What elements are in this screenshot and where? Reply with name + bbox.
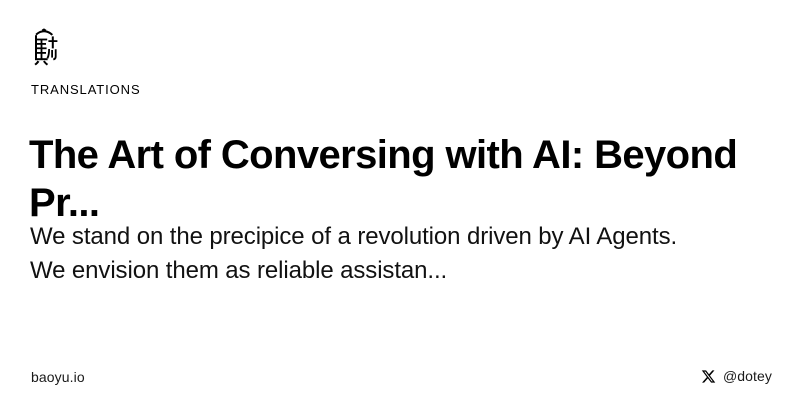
x-twitter-icon	[701, 369, 716, 384]
social-handle-group: @dotey	[701, 367, 772, 385]
social-handle: @dotey	[723, 367, 772, 385]
page-title-line: The Art of Conversing with AI: Beyond	[29, 133, 737, 177]
card-footer: baoyu.io @dotey	[0, 366, 800, 390]
brand-logo	[28, 28, 62, 66]
article-excerpt-line: We envision them as reliable assistan...	[30, 254, 785, 288]
category-label: TRANSLATIONS	[31, 82, 141, 98]
chinese-seal-character-logo	[28, 28, 62, 66]
article-excerpt-line: We stand on the precipice of a revolutio…	[30, 220, 785, 254]
article-excerpt: We stand on the precipice of a revolutio…	[30, 220, 785, 288]
page-title: The Art of Conversing with AI: Beyond Pr…	[29, 131, 771, 227]
page-title-line: Pr...	[29, 181, 99, 225]
share-card: TRANSLATIONS The Art of Conversing with …	[0, 0, 800, 420]
site-domain: baoyu.io	[31, 368, 85, 386]
